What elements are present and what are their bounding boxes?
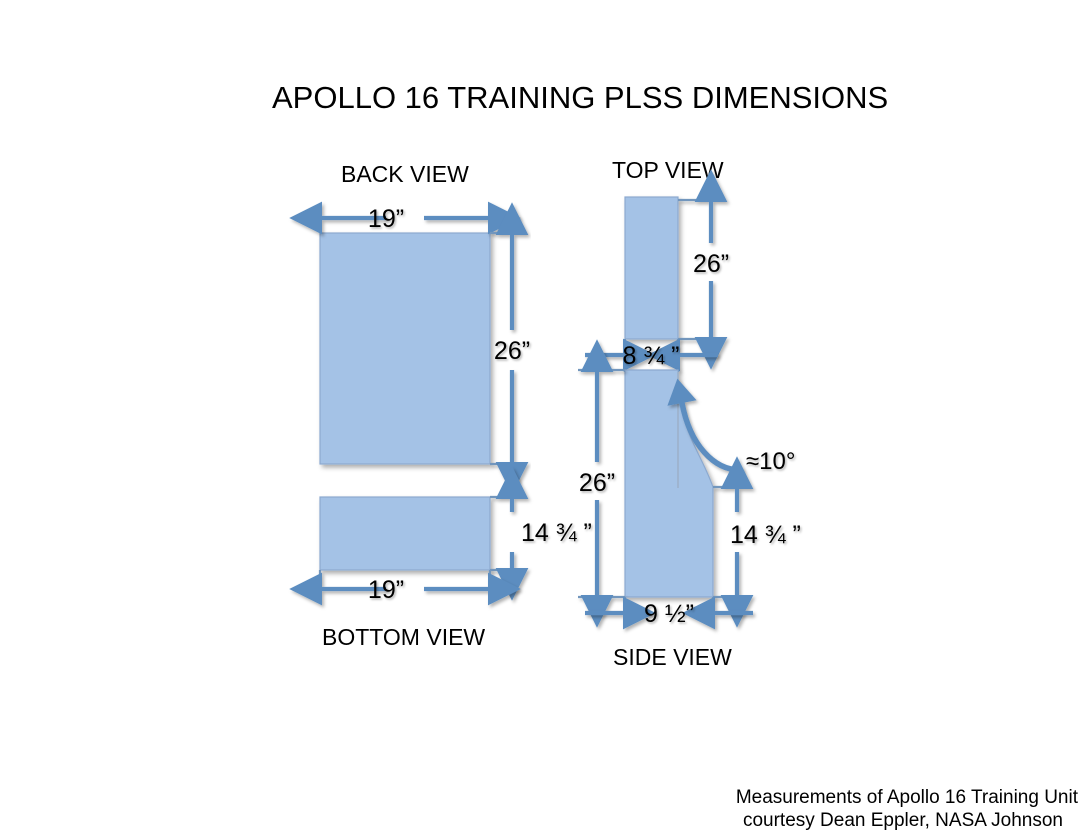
bottom-view-group: 14 ¾ ” 19” BOTTOM VIEW	[320, 497, 592, 650]
bottom-view-width-dimension	[320, 570, 490, 594]
back-view-width-value: 19”	[368, 205, 404, 233]
bottom-view-label: BOTTOM VIEW	[322, 624, 485, 650]
side-view-lower-height-value: 14 ¾ ”	[730, 521, 801, 549]
back-view-height-value: 26”	[494, 337, 530, 365]
top-view-shape	[625, 197, 678, 339]
top-view-width-value: 8 ¾ ”	[623, 342, 680, 370]
side-view-label: SIDE VIEW	[613, 644, 732, 670]
credit-block: Measurements of Apollo 16 Training Unit …	[736, 787, 1079, 831]
slide-canvas: APOLLO 16 TRAINING PLSS DIMENSIONS BACK …	[0, 0, 1080, 835]
bottom-view-shape	[320, 497, 490, 570]
side-view-base-depth-value: 9 ½”	[644, 600, 694, 628]
taper-angle-value: ≈10°	[746, 448, 795, 475]
back-view-width-dimension	[320, 206, 490, 233]
bottom-view-width-value: 19”	[368, 576, 404, 604]
back-view-group: BACK VIEW 19” 26”	[320, 161, 530, 464]
side-view-shape	[625, 370, 713, 597]
page-title: APOLLO 16 TRAINING PLSS DIMENSIONS	[272, 80, 888, 115]
credit-line-1: Measurements of Apollo 16 Training Unit	[736, 787, 1079, 808]
credit-line-2: courtesy Dean Eppler, NASA Johnson	[743, 810, 1063, 831]
top-view-group: TOP VIEW 26” 8 ¾ ”	[585, 157, 729, 372]
top-view-length-value: 26”	[693, 250, 729, 278]
bottom-view-depth-dimension	[490, 497, 521, 570]
plss-dimensions-diagram: APOLLO 16 TRAINING PLSS DIMENSIONS BACK …	[0, 0, 1080, 835]
back-view-shape	[320, 233, 490, 464]
bottom-view-depth-value: 14 ¾ ”	[521, 519, 592, 547]
back-view-label: BACK VIEW	[341, 161, 469, 187]
side-view-height-value: 26”	[579, 469, 615, 497]
side-view-group: ≈10° 26” 14 ¾ ”	[578, 370, 801, 670]
top-view-label: TOP VIEW	[612, 157, 724, 183]
